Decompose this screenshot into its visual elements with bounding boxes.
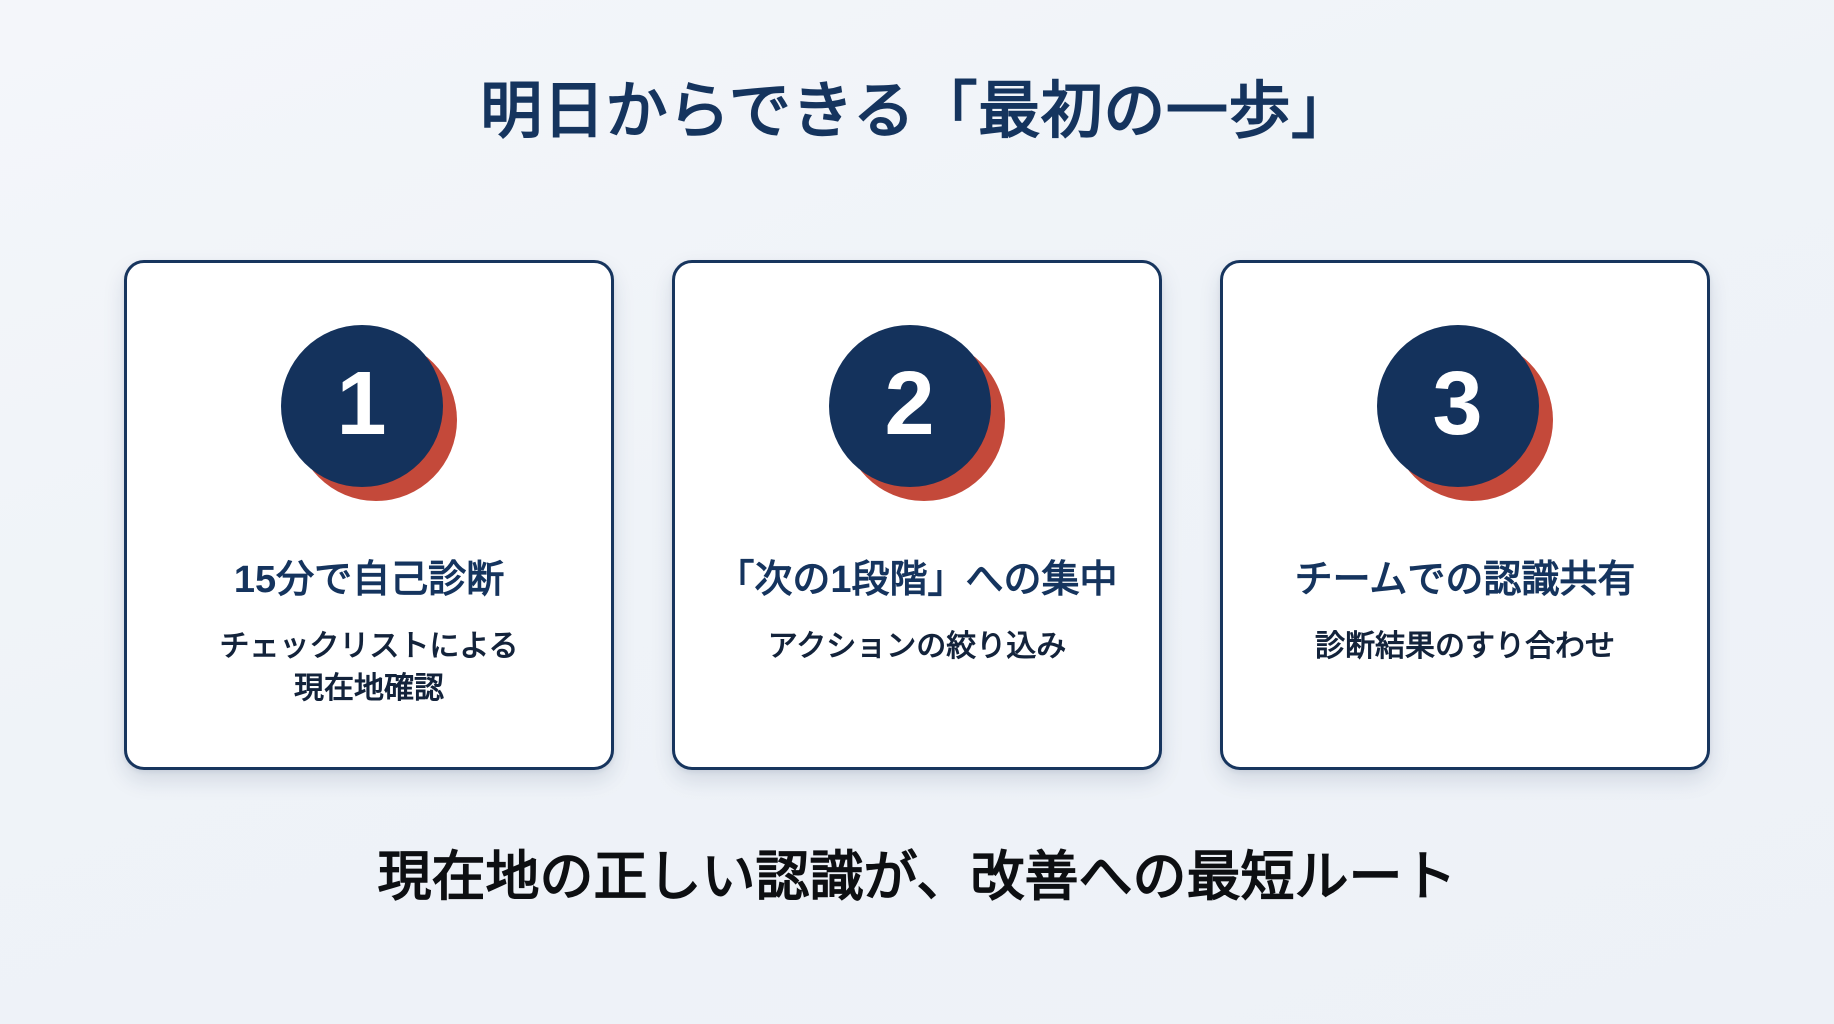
- step-number-label: 1: [337, 359, 388, 449]
- step-card-subtitle-line: アクションの絞り込み: [768, 626, 1067, 668]
- step-number-label: 3: [1433, 359, 1484, 449]
- badge-main-circle-icon: 2: [829, 325, 991, 487]
- slide-footer-message: 現在地の正しい認識が、改善への最短ルート: [378, 846, 1457, 908]
- step-card-subtitle: 診断結果のすり合わせ: [1315, 626, 1615, 668]
- page-title: 明日からできる「最初の一歩」: [480, 78, 1354, 146]
- step-card-subtitle: チェックリストによる 現在地確認: [219, 626, 518, 710]
- step-card-title: チームでの認識共有: [1295, 557, 1636, 605]
- step-card-3[interactable]: 3 チームでの認識共有 診断結果のすり合わせ: [1220, 260, 1710, 770]
- step-card-subtitle-line: 現在地確認: [219, 668, 518, 710]
- step-card-2[interactable]: 2 「次の1段階」への集中 アクションの絞り込み: [672, 260, 1162, 770]
- step-card-1[interactable]: 1 15分で自己診断 チェックリストによる 現在地確認: [124, 260, 614, 770]
- step-card-subtitle-line: 診断結果のすり合わせ: [1315, 626, 1615, 668]
- badge-main-circle-icon: 1: [281, 325, 443, 487]
- badge-main-circle-icon: 3: [1377, 325, 1539, 487]
- step-number-badge-3: 3: [1377, 325, 1553, 501]
- slide-canvas: 明日からできる「最初の一歩」 1 15分で自己診断 チェックリストによる 現在地…: [0, 0, 1834, 1024]
- step-card-subtitle-line: チェックリストによる: [219, 626, 518, 668]
- step-card-subtitle: アクションの絞り込み: [768, 626, 1067, 668]
- step-number-badge-2: 2: [829, 325, 1005, 501]
- steps-row: 1 15分で自己診断 チェックリストによる 現在地確認 2 「次の1段階」への集…: [124, 260, 1710, 770]
- step-card-title: 15分で自己診断: [234, 557, 504, 605]
- step-number-label: 2: [885, 359, 936, 449]
- step-card-title: 「次の1段階」への集中: [716, 557, 1117, 605]
- step-number-badge-1: 1: [281, 325, 457, 501]
